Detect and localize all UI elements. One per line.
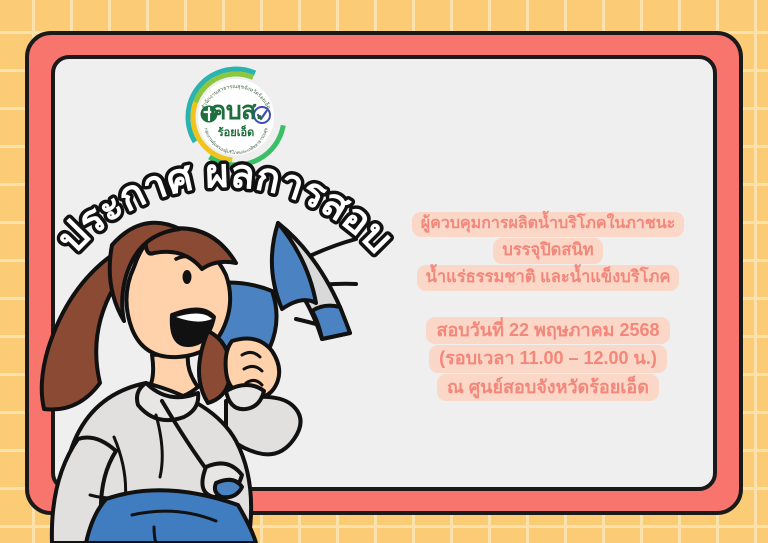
- announcement-line: ผู้ควบคุมการผลิตน้ำบริโภคในภาชนะ: [412, 212, 685, 237]
- announcement-text: ผู้ควบคุมการผลิตน้ำบริโภคในภาชนะ บรรจุปิ…: [388, 212, 708, 402]
- poster-root: สำนักงานสาธารณสุขจังหวัดร้อยเอ็ด กลุ่มงา…: [0, 0, 768, 543]
- announcement-block-1: ผู้ควบคุมการผลิตน้ำบริโภคในภาชนะ บรรจุปิ…: [388, 212, 708, 291]
- announcement-row: บรรจุปิดสนิท: [388, 238, 708, 264]
- announcement-row: น้ำแร่ธรรมชาติ และน้ำแข็งบริโภค: [388, 265, 708, 291]
- exam-time-line: (รอบเวลา 11.00 – 12.00 น.): [429, 345, 667, 373]
- announcement-line: น้ำแร่ธรรมชาติ และน้ำแข็งบริโภค: [417, 265, 680, 291]
- announcement-block-2: สอบวันที่ 22 พฤษภาคม 2568 (รอบเวลา 11.00…: [388, 317, 708, 402]
- announcement-row: ผู้ควบคุมการผลิตน้ำบริโภคในภาชนะ: [388, 212, 708, 237]
- announcement-line: บรรจุปิดสนิท: [493, 238, 602, 264]
- exam-venue-line: ณ ศูนย์สอบจังหวัดร้อยเอ็ด: [437, 374, 659, 402]
- announcement-row: สอบวันที่ 22 พฤษภาคม 2568: [388, 317, 708, 345]
- organization-logo: สำนักงานสาธารณสุขจังหวัดร้อยเอ็ด กลุ่มงา…: [180, 62, 292, 168]
- exam-date-line: สอบวันที่ 22 พฤษภาคม 2568: [426, 317, 669, 345]
- announcement-row: ณ ศูนย์สอบจังหวัดร้อยเอ็ด: [388, 374, 708, 402]
- announcement-row: (รอบเวลา 11.00 – 12.00 น.): [388, 345, 708, 373]
